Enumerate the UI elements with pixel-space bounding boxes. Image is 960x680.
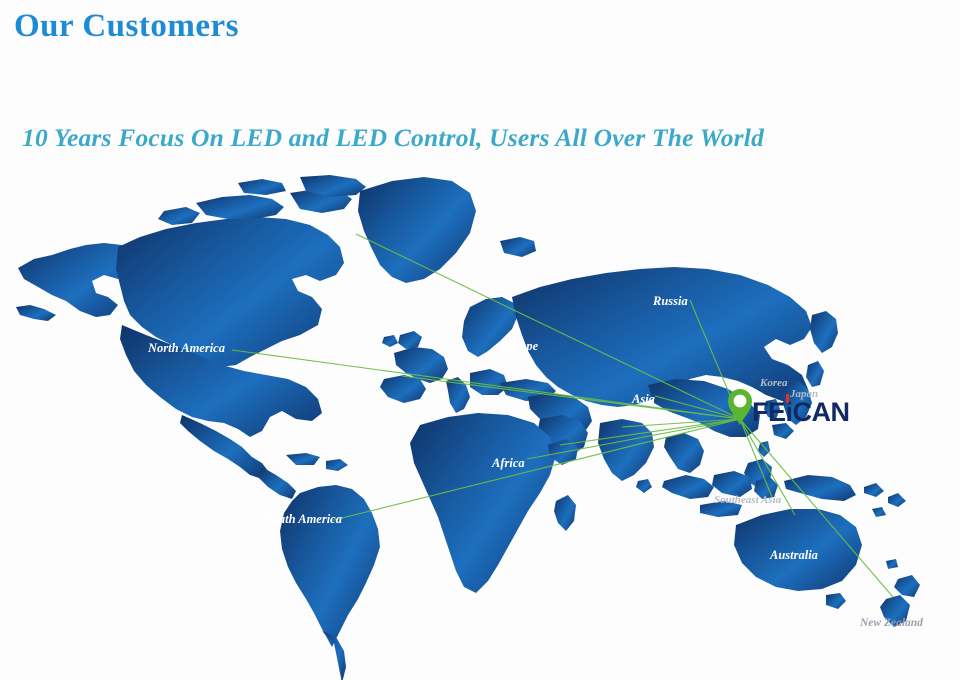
page-subtitle: 10 Years Focus On LED and LED Control, U… (22, 123, 764, 153)
land-scandinavia (462, 297, 518, 357)
land-central-america (258, 467, 296, 499)
land-madagascar (554, 495, 576, 531)
brand-accent-mark (786, 394, 789, 403)
land-iceland (500, 237, 536, 257)
land-new-zealand-south (880, 595, 910, 627)
land-kamchatka (810, 311, 838, 353)
land-new-guinea (784, 475, 856, 501)
land-africa (410, 413, 556, 593)
land-arctic-islands-1 (196, 195, 284, 219)
land-south-america-cone (322, 631, 346, 680)
land-nz-islet (886, 559, 898, 569)
land-uk (398, 331, 422, 349)
pin-inner-circle (734, 395, 747, 408)
land-south-america (280, 485, 380, 647)
land-sakhalin (806, 361, 824, 387)
land-australia (734, 509, 862, 591)
landmasses (16, 175, 920, 680)
land-caribbean-1 (286, 453, 320, 465)
land-iberia (380, 375, 426, 403)
world-map-svg (0, 175, 960, 680)
land-indochina (664, 433, 704, 473)
land-pacific-islands-2 (888, 493, 906, 507)
slide-root: Our Customers 10 Years Focus On LED and … (0, 0, 960, 680)
land-indonesia-java (700, 501, 742, 517)
land-pacific-islands-1 (864, 483, 884, 497)
land-balkans (470, 369, 508, 395)
land-ireland (382, 335, 398, 347)
land-new-zealand-north (894, 575, 920, 597)
land-greenland (358, 177, 476, 283)
land-pacific-islands-3 (872, 507, 886, 517)
feican-brand-logo: FEiCAN (752, 399, 850, 426)
land-arctic-islands-4 (238, 179, 286, 195)
land-indonesia-sumatra (662, 475, 714, 499)
world-map: North AmericaSouth AmericaEuropeAfricaRu… (0, 175, 960, 680)
brand-letter-i: i (786, 397, 793, 427)
land-aleutians (16, 305, 56, 321)
land-sri-lanka (636, 479, 652, 493)
brand-text-before-i: FE (752, 397, 786, 427)
page-title: Our Customers (14, 8, 239, 45)
brand-text-after-i: CAN (793, 397, 850, 427)
land-tasmania (826, 593, 846, 609)
land-india (598, 419, 654, 481)
land-arctic-islands-3 (158, 207, 200, 225)
land-caribbean-2 (326, 459, 348, 471)
